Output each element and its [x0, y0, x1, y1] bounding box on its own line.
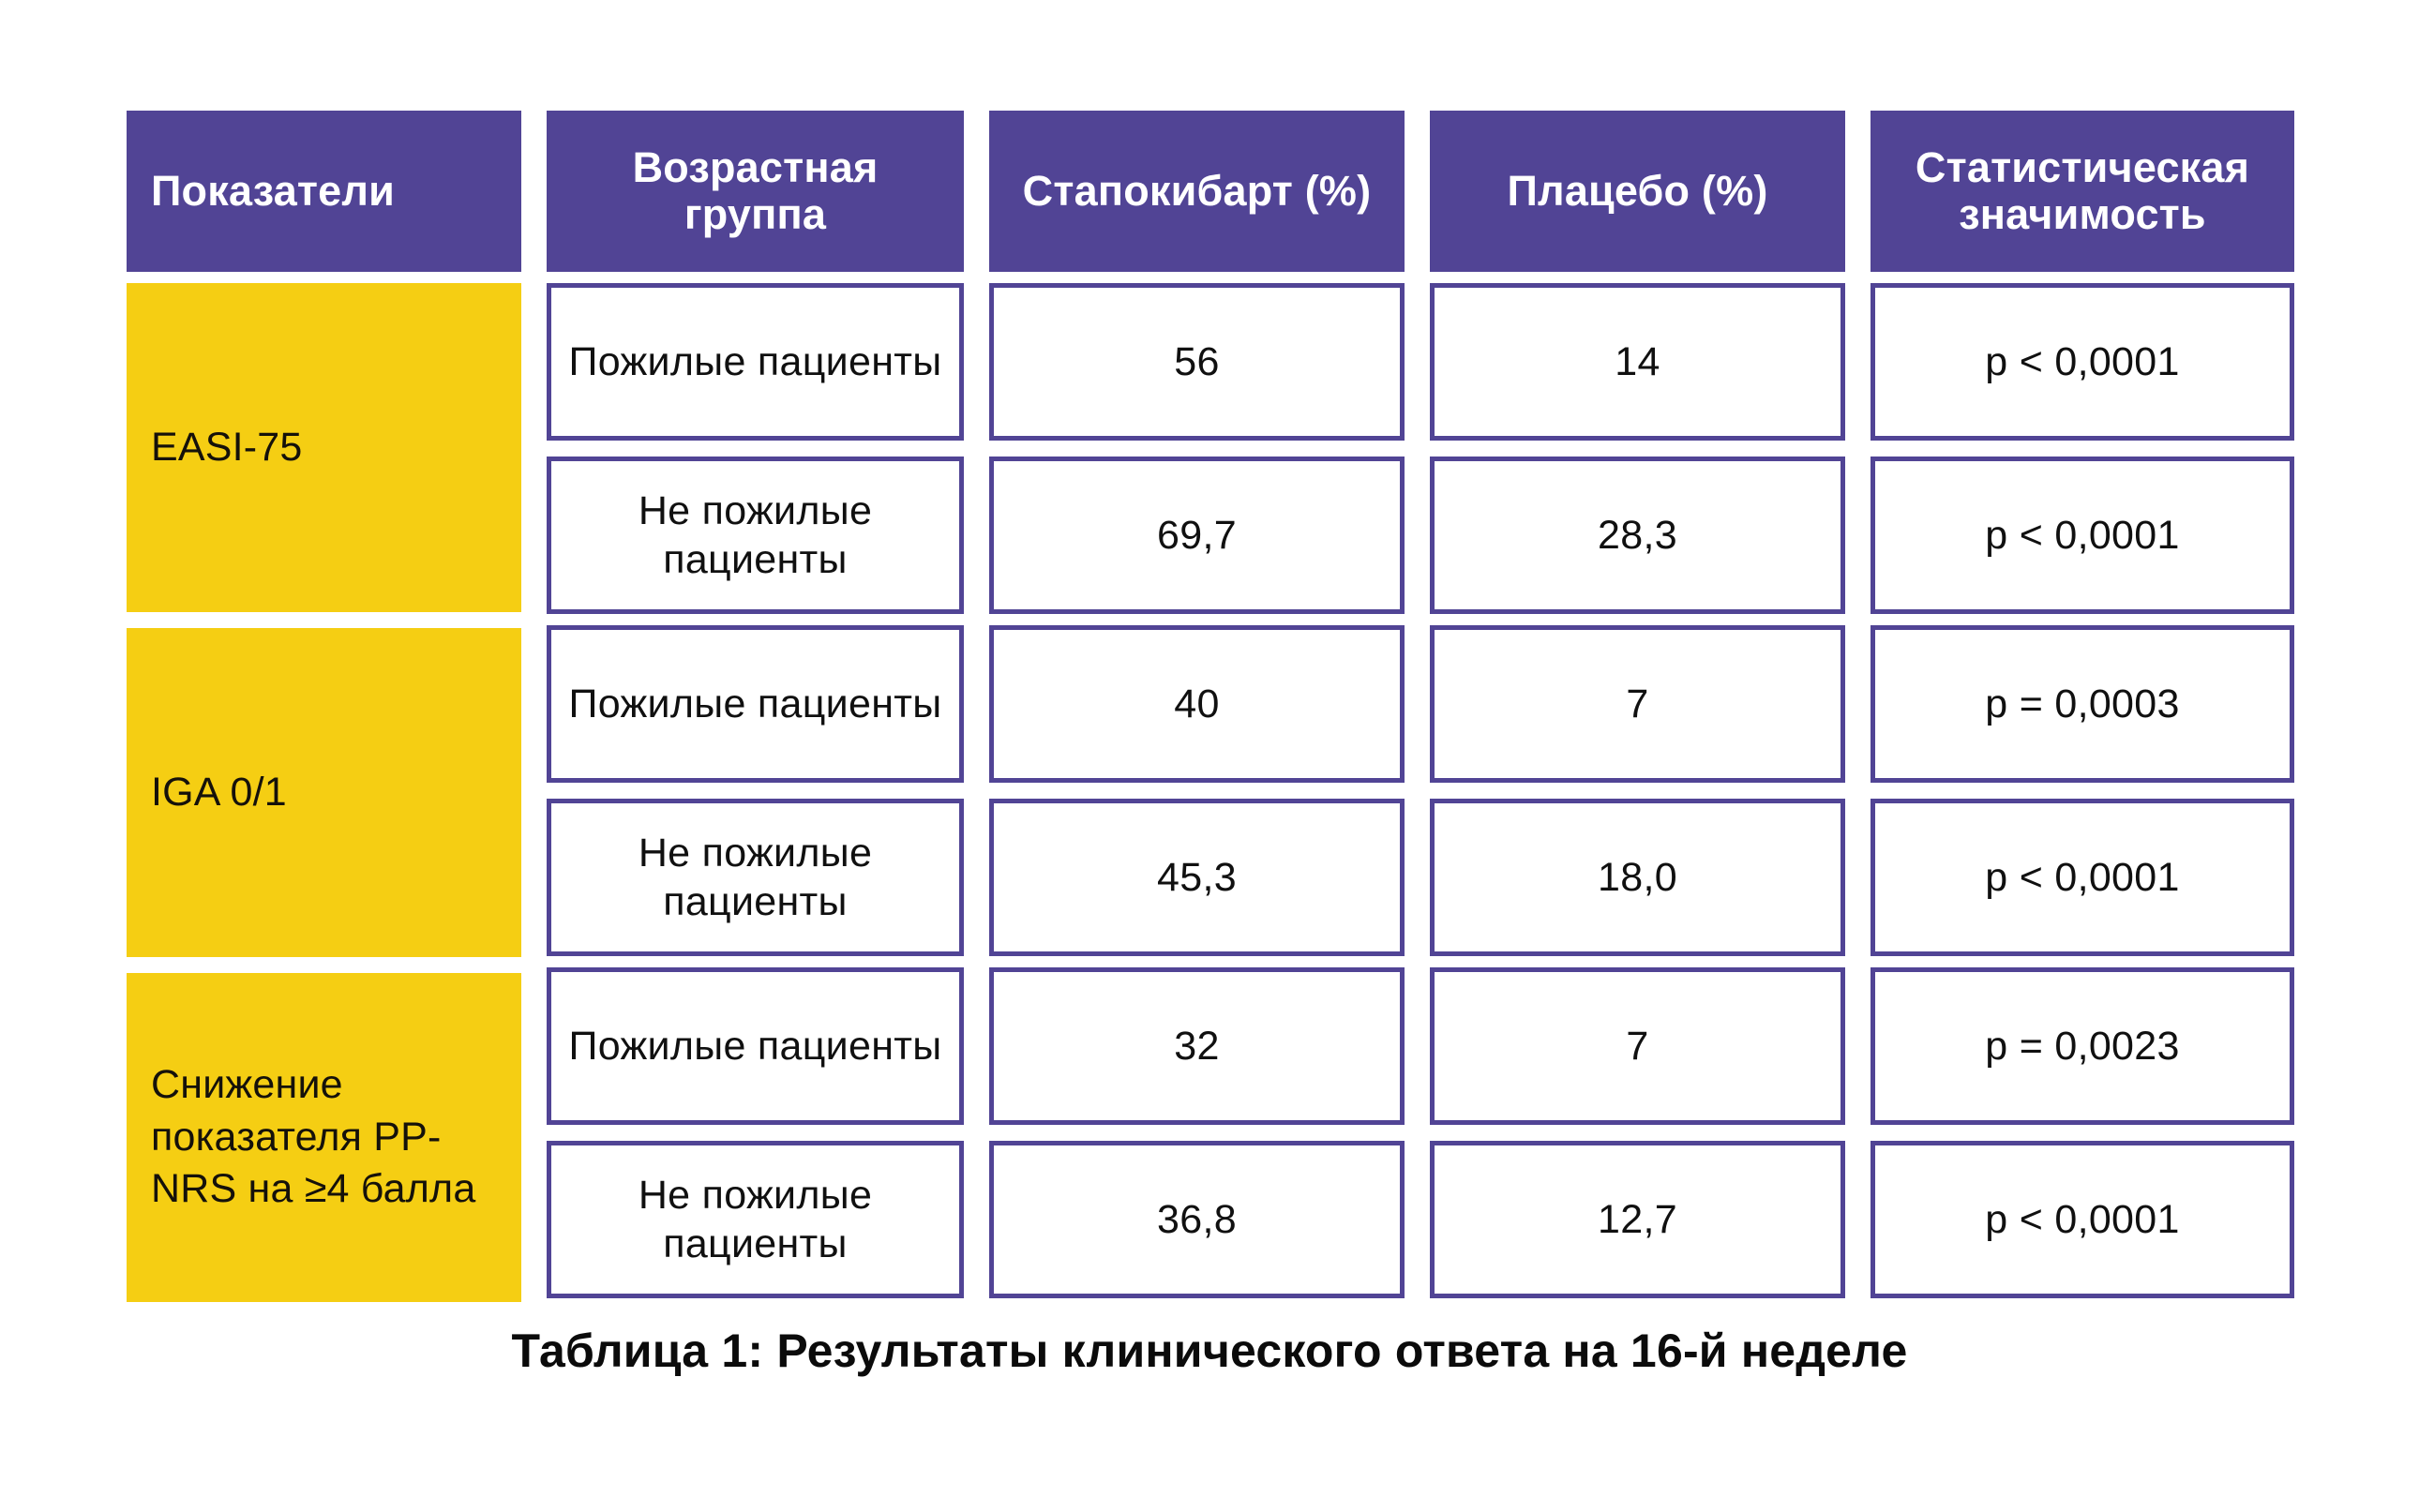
table-cell-stapokibart: 56: [989, 283, 1405, 441]
table-cell-placebo: 18,0: [1430, 799, 1845, 956]
table-cell-significance: p < 0,0001: [1871, 283, 2294, 441]
column-header-age-group: Возрастная группа: [547, 111, 964, 272]
table-body: EASI-75 IGA 0/1 Снижение показателя PP-N…: [127, 283, 2294, 1302]
table-header-row: Показатели Возрастная группа Стапокибарт…: [127, 111, 2294, 272]
table-cell-significance: p < 0,0001: [1871, 457, 2294, 614]
column-header-metric: Показатели: [127, 111, 521, 272]
table-cell-age-group: Не пожилые пациенты: [547, 457, 964, 614]
table-figure-page: Показатели Возрастная группа Стапокибарт…: [0, 0, 2419, 1512]
table-cell-stapokibart: 32: [989, 967, 1405, 1125]
stapokibart-column: 56 69,7 40 45,3 32 36,8: [989, 283, 1405, 1302]
table-cell-stapokibart: 36,8: [989, 1141, 1405, 1298]
placebo-column: 14 28,3 7 18,0 7 12,7: [1430, 283, 1845, 1302]
table-cell-age-group: Не пожилые пациенты: [547, 799, 964, 956]
column-header-stapokibart: Стапокибарт (%): [989, 111, 1405, 272]
table-cell-significance: p = 0,0003: [1871, 625, 2294, 783]
column-header-placebo: Плацебо (%): [1430, 111, 1845, 272]
table-cell-significance: p < 0,0001: [1871, 1141, 2294, 1298]
table-cell-age-group: Пожилые пациенты: [547, 283, 964, 441]
column-header-significance: Статистическая значимость: [1871, 111, 2294, 272]
table-cell-placebo: 7: [1430, 625, 1845, 783]
table-cell-age-group: Пожилые пациенты: [547, 625, 964, 783]
metric-cell-iga01: IGA 0/1: [127, 628, 521, 957]
table-cell-age-group: Пожилые пациенты: [547, 967, 964, 1125]
table-caption: Таблица 1: Результаты клинического ответ…: [0, 1324, 2419, 1378]
table-cell-age-group: Не пожилые пациенты: [547, 1141, 964, 1298]
table-cell-placebo: 7: [1430, 967, 1845, 1125]
clinical-results-table: Показатели Возрастная группа Стапокибарт…: [127, 111, 2294, 1302]
metric-cell-easi75: EASI-75: [127, 283, 521, 612]
table-cell-significance: p = 0,0023: [1871, 967, 2294, 1125]
table-cell-significance: p < 0,0001: [1871, 799, 2294, 956]
table-cell-placebo: 12,7: [1430, 1141, 1845, 1298]
table-cell-stapokibart: 45,3: [989, 799, 1405, 956]
table-cell-stapokibart: 40: [989, 625, 1405, 783]
significance-column: p < 0,0001 p < 0,0001 p = 0,0003 p < 0,0…: [1871, 283, 2294, 1302]
table-cell-placebo: 28,3: [1430, 457, 1845, 614]
metric-cell-ppnrs: Снижение показателя PP-NRS на ≥4 балла: [127, 973, 521, 1302]
table-cell-stapokibart: 69,7: [989, 457, 1405, 614]
age-group-column: Пожилые пациенты Не пожилые пациенты Пож…: [547, 283, 964, 1302]
metric-column: EASI-75 IGA 0/1 Снижение показателя PP-N…: [127, 283, 521, 1302]
table-cell-placebo: 14: [1430, 283, 1845, 441]
